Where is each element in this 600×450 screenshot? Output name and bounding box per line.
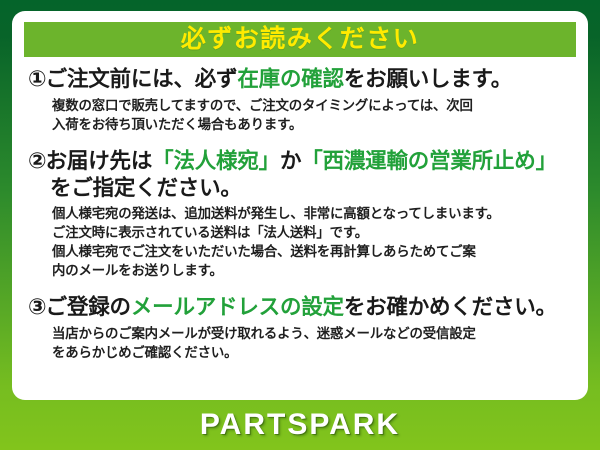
notice-card: 必ずお読みください ①ご注文前には、必ず在庫の確認をお願いします。 複数の窓口で…	[12, 11, 588, 400]
item-1-heading-pre: ご注文前には、必ず	[46, 67, 238, 91]
item-2-subtext-line-1: 個人様宅宛の発送は、追加送料が発生し、非常に高額となってしまいます。	[52, 204, 574, 223]
item-2-number: ②	[28, 148, 46, 173]
item-3-subtext-line-2: をあらかじめご確認ください。	[52, 343, 574, 362]
notice-list: ①ご注文前には、必ず在庫の確認をお願いします。 複数の窓口で販売してますので、ご…	[12, 65, 588, 364]
item-2-heading-highlight-2: 「西濃運輸の営業所止め」	[301, 149, 557, 173]
item-2-subtext-line-4: 内のメールをお送りします。	[52, 261, 574, 280]
item-3-heading-pre: ご登録の	[46, 295, 131, 319]
item-1-heading-post: をお願いします。	[344, 67, 512, 91]
item-1-heading-highlight: 在庫の確認	[237, 67, 344, 91]
page-title: 必ずお読みください	[181, 27, 420, 52]
item-3-heading: ③ご登録のメールアドレスの設定をお確かめください。	[28, 294, 574, 321]
item-3-subtext-line-1: 当店からのご案内メールが受け取れるよう、迷惑メールなどの受信設定	[52, 324, 574, 343]
title-bar: 必ずお読みください	[24, 22, 576, 57]
item-1-heading: ①ご注文前には、必ず在庫の確認をお願いします。	[28, 66, 574, 93]
item-2-heading-line-2: をご指定ください。	[28, 175, 574, 201]
item-2-heading-mid: か	[280, 149, 301, 173]
item-3-number: ③	[28, 294, 46, 319]
item-3-heading-highlight: メールアドレスの設定	[131, 295, 344, 319]
item-3-heading-post: をお確かめください。	[344, 295, 557, 319]
item-2-subtext-line-3: 個人様宅宛でご注文をいただいた場合、送料を再計算しあらためてご案	[52, 242, 574, 261]
notice-poster: 必ずお読みください ①ご注文前には、必ず在庫の確認をお願いします。 複数の窓口で…	[0, 0, 600, 450]
item-1-number: ①	[28, 66, 46, 91]
list-item: ②お届け先は「法人様宛」か「西濃運輸の営業所止め」をご指定ください。 個人様宅宛…	[28, 148, 574, 280]
item-3-subtext: 当店からのご案内メールが受け取れるよう、迷惑メールなどの受信設定 をあらかじめご…	[28, 324, 574, 362]
item-2-heading: ②お届け先は「法人様宛」か「西濃運輸の営業所止め」をご指定ください。	[28, 148, 574, 201]
item-2-subtext-line-2: ご注文時に表示されている送料は「法人送料」です。	[52, 223, 574, 242]
item-2-heading-pre: お届け先は	[46, 149, 153, 173]
item-2-heading-highlight: 「法人様宛」	[152, 149, 280, 173]
footer-brand-bar: PARTSPARK	[0, 400, 600, 450]
item-2-subtext: 個人様宅宛の発送は、追加送料が発生し、非常に高額となってしまいます。 ご注文時に…	[28, 204, 574, 280]
item-1-subtext-line-2: 入荷をお待ち頂いただく場合もあります。	[52, 115, 574, 134]
item-1-subtext: 複数の窓口で販売してますので、ご注文のタイミングによっては、次回 入荷をお待ち頂…	[28, 96, 574, 134]
list-item: ③ご登録のメールアドレスの設定をお確かめください。 当店からのご案内メールが受け…	[28, 294, 574, 362]
brand-logo-text: PARTSPARK	[200, 410, 400, 440]
list-item: ①ご注文前には、必ず在庫の確認をお願いします。 複数の窓口で販売してますので、ご…	[28, 66, 574, 134]
item-1-subtext-line-1: 複数の窓口で販売してますので、ご注文のタイミングによっては、次回	[52, 96, 574, 115]
